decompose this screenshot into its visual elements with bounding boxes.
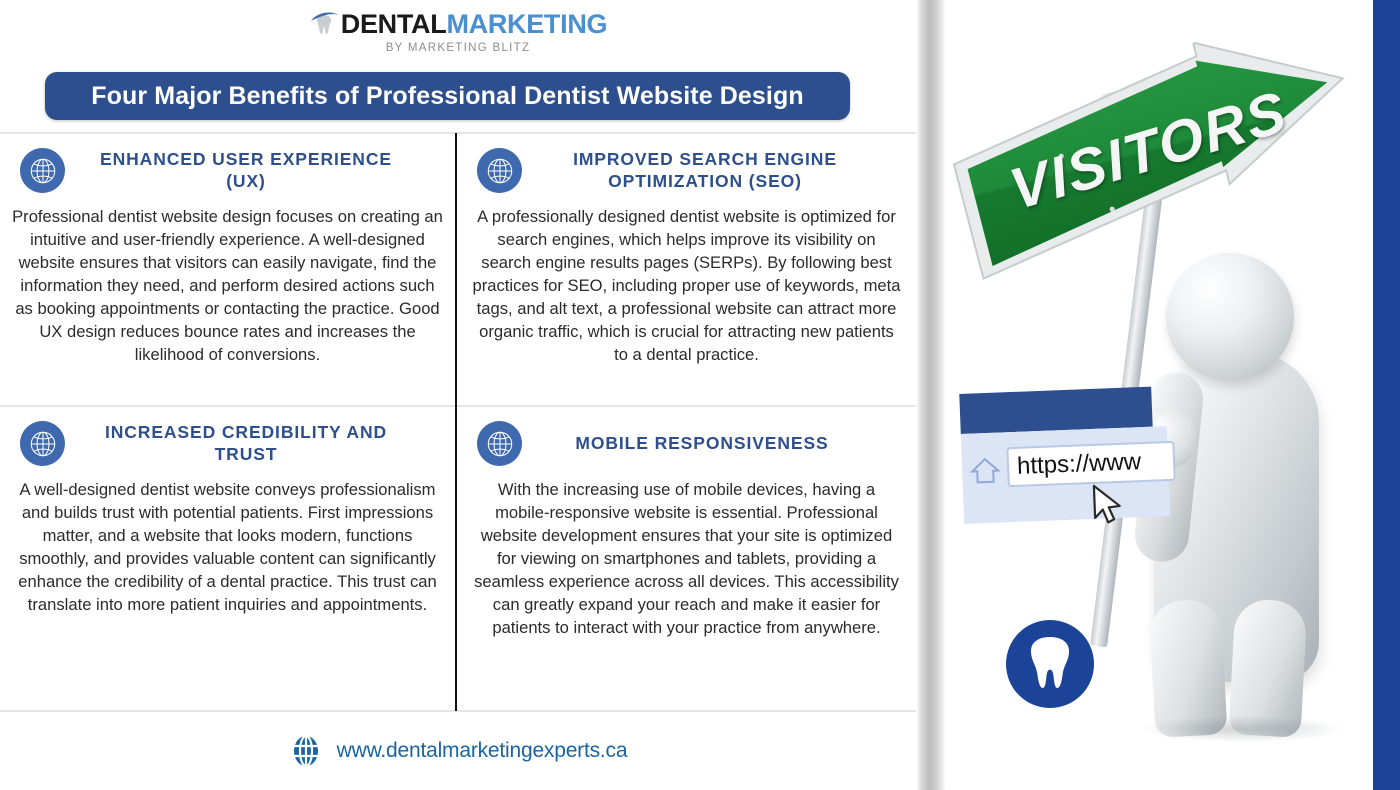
benefit-header-1: ENHANCED USER EXPERIENCE (UX) [0,134,455,193]
benefit-title-1: ENHANCED USER EXPERIENCE (UX) [79,149,437,193]
logo-tagline: BY MARKETING BLITZ [386,43,531,55]
panel-shadow-divider [916,0,946,790]
tooth-logo-icon [309,9,339,39]
globe-icon [477,421,522,466]
3d-person-figure-head [1166,253,1294,381]
benefit-header-4: MOBILE RESPONSIVENESS [457,407,916,466]
benefit-body-1: Professional dentist website design focu… [0,193,455,366]
mouse-cursor-icon [1091,483,1127,528]
brand-logo: DENTAL MARKETING BY MARKETING BLITZ [0,6,916,58]
benefit-body-2: A professionally designed dentist websit… [457,193,916,366]
benefit-body-3: A well-designed dentist website conveys … [0,466,455,616]
page-title-banner: Four Major Benefits of Professional Dent… [45,72,850,120]
globe-icon [20,148,65,193]
address-bar[interactable]: https://www [1006,441,1175,487]
globe-icon [20,421,65,466]
right-edge-accent-bar [1373,0,1400,790]
benefit-card-3: INCREASED CREDIBILITY AND TRUST A well-d… [0,407,455,710]
logo-text-primary: DENTAL [341,11,447,38]
infographic-page: DENTAL MARKETING BY MARKETING BLITZ Four… [0,0,1400,790]
benefit-card-4: MOBILE RESPONSIVENESS With the increasin… [457,407,916,710]
page-title: Four Major Benefits of Professional Dent… [91,82,803,111]
illustration-panel: VISITORS https://www [946,0,1400,790]
home-icon[interactable] [970,455,1001,486]
content-panel: DENTAL MARKETING BY MARKETING BLITZ Four… [0,0,916,790]
green-arrow-sign: VISITORS [946,7,1384,318]
3d-person-figure-shadow [1142,716,1342,742]
tooth-icon [1006,620,1094,708]
benefit-title-4: MOBILE RESPONSIVENESS [536,433,898,455]
footer-url[interactable]: www.dentalmarketingexperts.ca [337,739,628,763]
benefit-title-2: IMPROVED SEARCH ENGINE OPTIMIZATION (SEO… [536,149,898,193]
globe-icon [289,734,323,768]
logo-text-secondary: MARKETING [446,11,607,38]
benefit-card-1: ENHANCED USER EXPERIENCE (UX) Profession… [0,134,455,405]
benefit-title-3: INCREASED CREDIBILITY AND TRUST [79,422,437,466]
globe-icon [477,148,522,193]
benefit-header-2: IMPROVED SEARCH ENGINE OPTIMIZATION (SEO… [457,134,916,193]
benefit-header-3: INCREASED CREDIBILITY AND TRUST [0,407,455,466]
footer: www.dentalmarketingexperts.ca [0,712,916,790]
address-bar-text: https://www [1017,448,1142,481]
benefit-card-2: IMPROVED SEARCH ENGINE OPTIMIZATION (SEO… [457,134,916,405]
browser-graphic: https://www [959,386,1170,540]
benefit-body-4: With the increasing use of mobile device… [457,466,916,639]
